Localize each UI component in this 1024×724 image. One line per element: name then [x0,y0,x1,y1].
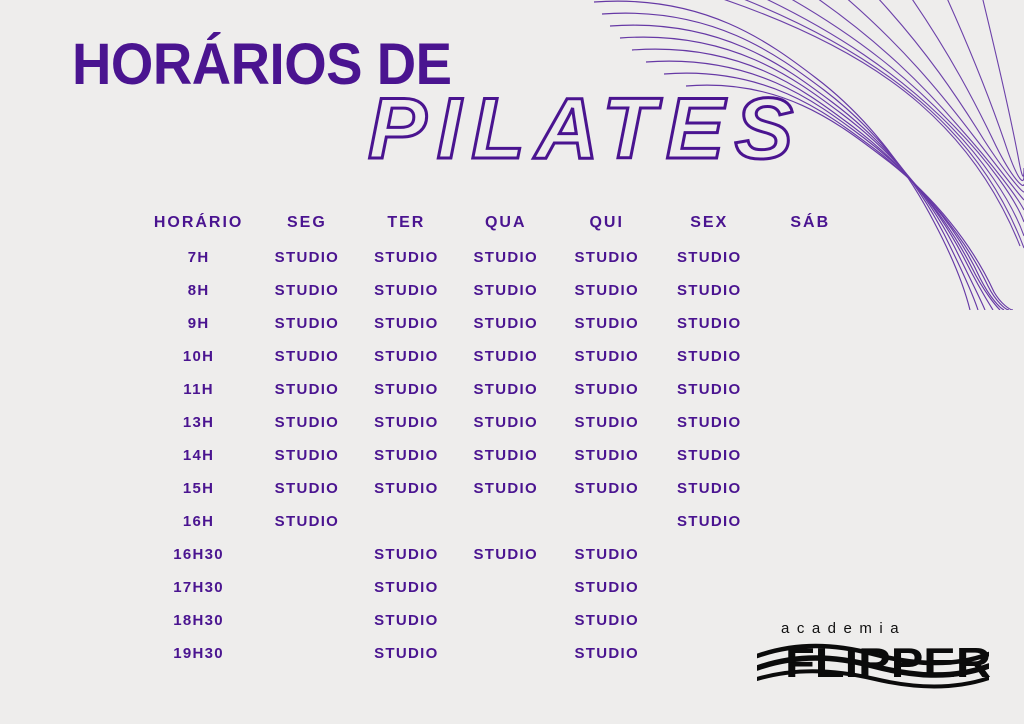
empty-slot [761,274,860,307]
empty-slot [761,406,860,439]
empty-slot [658,637,761,670]
column-header-qui: QUI [555,205,658,241]
class-slot: STUDIO [658,307,761,340]
class-slot: STUDIO [357,373,456,406]
empty-slot [658,571,761,604]
academia-flipper-logo: academia FLIPPER [757,620,989,690]
empty-slot [761,340,860,373]
empty-slot [761,241,860,274]
time-label: 18H30 [140,604,257,637]
class-slot: STUDIO [555,538,658,571]
class-slot: STUDIO [555,637,658,670]
table-row: 13HSTUDIOSTUDIOSTUDIOSTUDIOSTUDIO [140,406,860,439]
table-row: 18H30STUDIOSTUDIO [140,604,860,637]
class-slot: STUDIO [257,307,356,340]
class-slot: STUDIO [555,406,658,439]
time-label: 15H [140,472,257,505]
class-slot: STUDIO [257,241,356,274]
empty-slot [456,604,555,637]
table-row: 19H30STUDIOSTUDIO [140,637,860,670]
class-slot: STUDIO [555,340,658,373]
logo-flipper-wordmark: FLIPPER [757,638,989,690]
table-row: 11HSTUDIOSTUDIOSTUDIOSTUDIOSTUDIO [140,373,860,406]
class-slot: STUDIO [357,604,456,637]
class-slot: STUDIO [357,472,456,505]
class-slot: STUDIO [257,406,356,439]
time-label: 17H30 [140,571,257,604]
table-row: 16H30STUDIOSTUDIOSTUDIO [140,538,860,571]
time-label: 9H [140,307,257,340]
class-slot: STUDIO [658,274,761,307]
table-row: 8HSTUDIOSTUDIOSTUDIOSTUDIOSTUDIO [140,274,860,307]
time-label: 11H [140,373,257,406]
class-slot: STUDIO [357,406,456,439]
class-slot: STUDIO [257,472,356,505]
class-slot: STUDIO [257,340,356,373]
class-slot: STUDIO [658,505,761,538]
empty-slot [257,538,356,571]
class-slot: STUDIO [257,274,356,307]
class-slot: STUDIO [456,340,555,373]
time-label: 13H [140,406,257,439]
time-label: 8H [140,274,257,307]
class-slot: STUDIO [658,241,761,274]
empty-slot [761,505,860,538]
class-slot: STUDIO [456,406,555,439]
empty-slot [761,373,860,406]
column-header-seg: SEG [257,205,356,241]
table-row: 17H30STUDIOSTUDIO [140,571,860,604]
class-slot: STUDIO [456,241,555,274]
empty-slot [257,571,356,604]
time-label: 16H30 [140,538,257,571]
empty-slot [761,307,860,340]
empty-slot [658,604,761,637]
time-label: 19H30 [140,637,257,670]
class-slot: STUDIO [658,373,761,406]
class-slot: STUDIO [357,307,456,340]
class-slot: STUDIO [257,373,356,406]
class-slot: STUDIO [357,274,456,307]
table-row: 7HSTUDIOSTUDIOSTUDIOSTUDIOSTUDIO [140,241,860,274]
empty-slot [257,604,356,637]
table-header-row: HORÁRIO SEG TER QUA QUI SEX SÁB [140,205,860,241]
empty-slot [761,571,860,604]
class-slot: STUDIO [555,373,658,406]
class-slot: STUDIO [555,472,658,505]
column-header-sex: SEX [658,205,761,241]
schedule-table: HORÁRIO SEG TER QUA QUI SEX SÁB 7HSTUDIO… [140,205,860,670]
page-subtitle-outline: PILATES [368,86,803,172]
time-label: 16H [140,505,257,538]
empty-slot [761,472,860,505]
class-slot: STUDIO [555,274,658,307]
class-slot: STUDIO [658,439,761,472]
class-slot: STUDIO [456,472,555,505]
poster-title-block: HORÁRIOS DE PILATES [0,0,1024,200]
class-slot: STUDIO [456,274,555,307]
empty-slot [357,505,456,538]
class-slot: STUDIO [257,439,356,472]
class-slot: STUDIO [357,571,456,604]
class-slot: STUDIO [456,439,555,472]
empty-slot [555,505,658,538]
class-slot: STUDIO [555,241,658,274]
time-label: 10H [140,340,257,373]
column-header-qua: QUA [456,205,555,241]
empty-slot [257,637,356,670]
table-row: 14HSTUDIOSTUDIOSTUDIOSTUDIOSTUDIO [140,439,860,472]
class-slot: STUDIO [456,307,555,340]
schedule-body: 7HSTUDIOSTUDIOSTUDIOSTUDIOSTUDIO8HSTUDIO… [140,241,860,670]
empty-slot [456,571,555,604]
class-slot: STUDIO [555,604,658,637]
class-slot: STUDIO [357,637,456,670]
class-slot: STUDIO [456,538,555,571]
class-slot: STUDIO [357,241,456,274]
empty-slot [761,439,860,472]
class-slot: STUDIO [658,406,761,439]
column-header-ter: TER [357,205,456,241]
empty-slot [456,637,555,670]
class-slot: STUDIO [257,505,356,538]
table-row: 10HSTUDIOSTUDIOSTUDIOSTUDIOSTUDIO [140,340,860,373]
time-label: 14H [140,439,257,472]
logo-wave-strokes [757,638,989,690]
class-slot: STUDIO [658,472,761,505]
logo-academia-text: academia [781,620,906,637]
table-row: 16HSTUDIOSTUDIO [140,505,860,538]
class-slot: STUDIO [456,373,555,406]
time-label: 7H [140,241,257,274]
class-slot: STUDIO [658,340,761,373]
table-row: 15HSTUDIOSTUDIOSTUDIOSTUDIOSTUDIO [140,472,860,505]
empty-slot [761,538,860,571]
column-header-horario: HORÁRIO [140,205,257,241]
empty-slot [456,505,555,538]
empty-slot [658,538,761,571]
class-slot: STUDIO [357,340,456,373]
class-slot: STUDIO [357,439,456,472]
class-slot: STUDIO [555,571,658,604]
class-slot: STUDIO [357,538,456,571]
column-header-sab: SÁB [761,205,860,241]
class-slot: STUDIO [555,439,658,472]
pilates-schedule-poster: HORÁRIOS DE PILATES HORÁRIO SEG TER QUA … [0,0,1024,724]
class-slot: STUDIO [555,307,658,340]
table-row: 9HSTUDIOSTUDIOSTUDIOSTUDIOSTUDIO [140,307,860,340]
